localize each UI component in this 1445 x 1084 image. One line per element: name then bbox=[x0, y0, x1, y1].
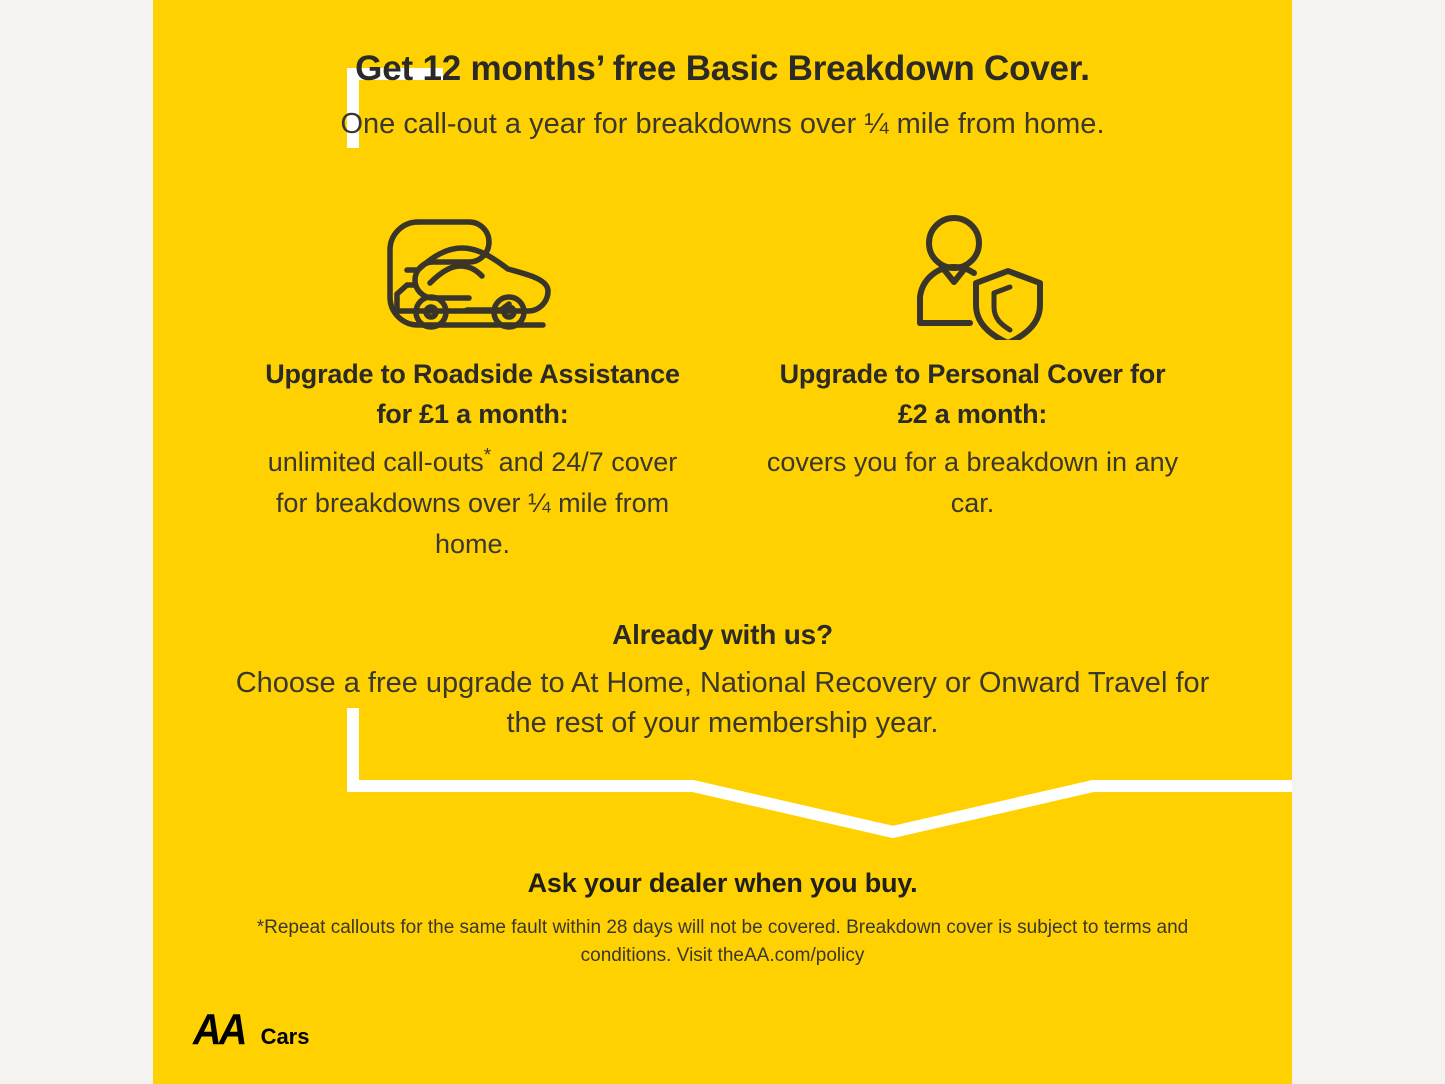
terms-footnote: *Repeat callouts for the same fault with… bbox=[233, 914, 1213, 970]
aa-cars-logo: AA Cars bbox=[193, 1008, 309, 1052]
car-with-road-icon bbox=[373, 205, 573, 340]
page-title: Get 12 months’ free Basic Breakdown Cove… bbox=[153, 48, 1292, 90]
aa-logo-wordmark: Cars bbox=[261, 1026, 310, 1048]
feature-body-roadside-prefix: unlimited call-outs bbox=[268, 447, 484, 477]
yellow-promo-panel: Get 12 months’ free Basic Breakdown Cove… bbox=[153, 0, 1292, 1084]
already-member-title: Already with us? bbox=[153, 617, 1292, 653]
aa-logo-mark: AA bbox=[193, 1008, 245, 1052]
call-to-action-block: Ask your dealer when you buy. *Repeat ca… bbox=[153, 866, 1292, 970]
feature-columns: Upgrade to Roadside Assistance for £1 a … bbox=[153, 205, 1292, 565]
feature-body-roadside: unlimited call-outs* and 24/7 cover for … bbox=[258, 442, 688, 565]
already-member-block: Already with us? Choose a free upgrade t… bbox=[153, 617, 1292, 743]
page-subtitle: One call-out a year for breakdowns over … bbox=[153, 105, 1292, 143]
feature-body-personal: covers you for a breakdown in any car. bbox=[763, 442, 1183, 524]
frame-bottom-chevron bbox=[347, 770, 1292, 840]
call-to-action-title: Ask your dealer when you buy. bbox=[153, 866, 1292, 900]
feature-roadside-assistance: Upgrade to Roadside Assistance for £1 a … bbox=[223, 205, 723, 565]
feature-personal-cover: Upgrade to Personal Cover for £2 a month… bbox=[723, 205, 1223, 565]
already-member-body: Choose a free upgrade to At Home, Nation… bbox=[223, 663, 1223, 743]
feature-body-personal-prefix: covers you for a breakdown in any car. bbox=[767, 447, 1178, 518]
feature-title-roadside: Upgrade to Roadside Assistance for £1 a … bbox=[258, 354, 688, 434]
person-with-shield-icon bbox=[898, 205, 1048, 340]
feature-title-personal: Upgrade to Personal Cover for £2 a month… bbox=[763, 354, 1183, 434]
promo-poster: Get 12 months’ free Basic Breakdown Cove… bbox=[0, 0, 1445, 1084]
